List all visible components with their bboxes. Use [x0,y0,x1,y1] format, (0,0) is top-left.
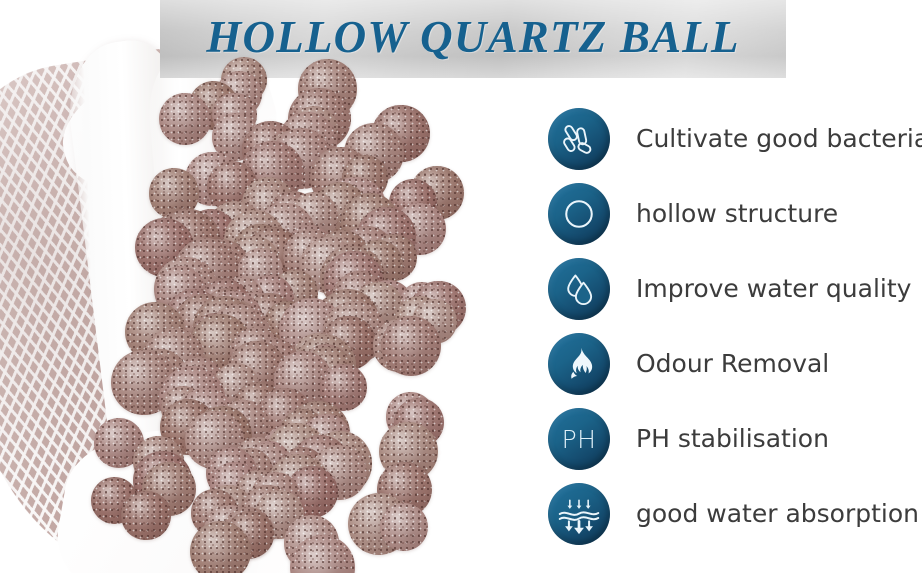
feature-item-ph-stabilisation: PH PH stabilisation [548,408,922,470]
feature-item-odour-removal: Odour Removal [548,333,922,395]
bacteria-icon [548,108,610,170]
flame-icon [548,333,610,395]
product-photo [0,0,545,573]
quartz-ball [381,316,441,376]
quartz-ball [121,491,170,540]
water-droplets-icon [548,258,610,320]
feature-label: Odour Removal [636,351,829,377]
ph-icon: PH [548,408,610,470]
product-infographic: HOLLOW QUARTZ BALL Cultivate good bacter… [0,0,922,573]
feature-label: good water absorption [636,501,919,527]
quartz-ball [159,93,211,145]
feature-item-good-water-absorption: good water absorption [548,483,922,545]
page-title: HOLLOW QUARTZ BALL [206,11,739,63]
feature-label: hollow structure [636,201,838,227]
quartz-ball [380,503,428,551]
water-absorption-icon [548,483,610,545]
feature-list: Cultivate good bacteria hollow structure… [548,108,922,558]
ph-icon-text: PH [562,427,597,452]
feature-label: PH stabilisation [636,426,829,452]
feature-item-cultivate-good-bacteria: Cultivate good bacteria [548,108,922,170]
feature-label: Cultivate good bacteria [636,126,922,152]
hollow-ring-icon [548,183,610,245]
feature-label: Improve water quality [636,276,911,302]
feature-item-hollow-structure: hollow structure [548,183,922,245]
feature-item-improve-water-quality: Improve water quality [548,258,922,320]
